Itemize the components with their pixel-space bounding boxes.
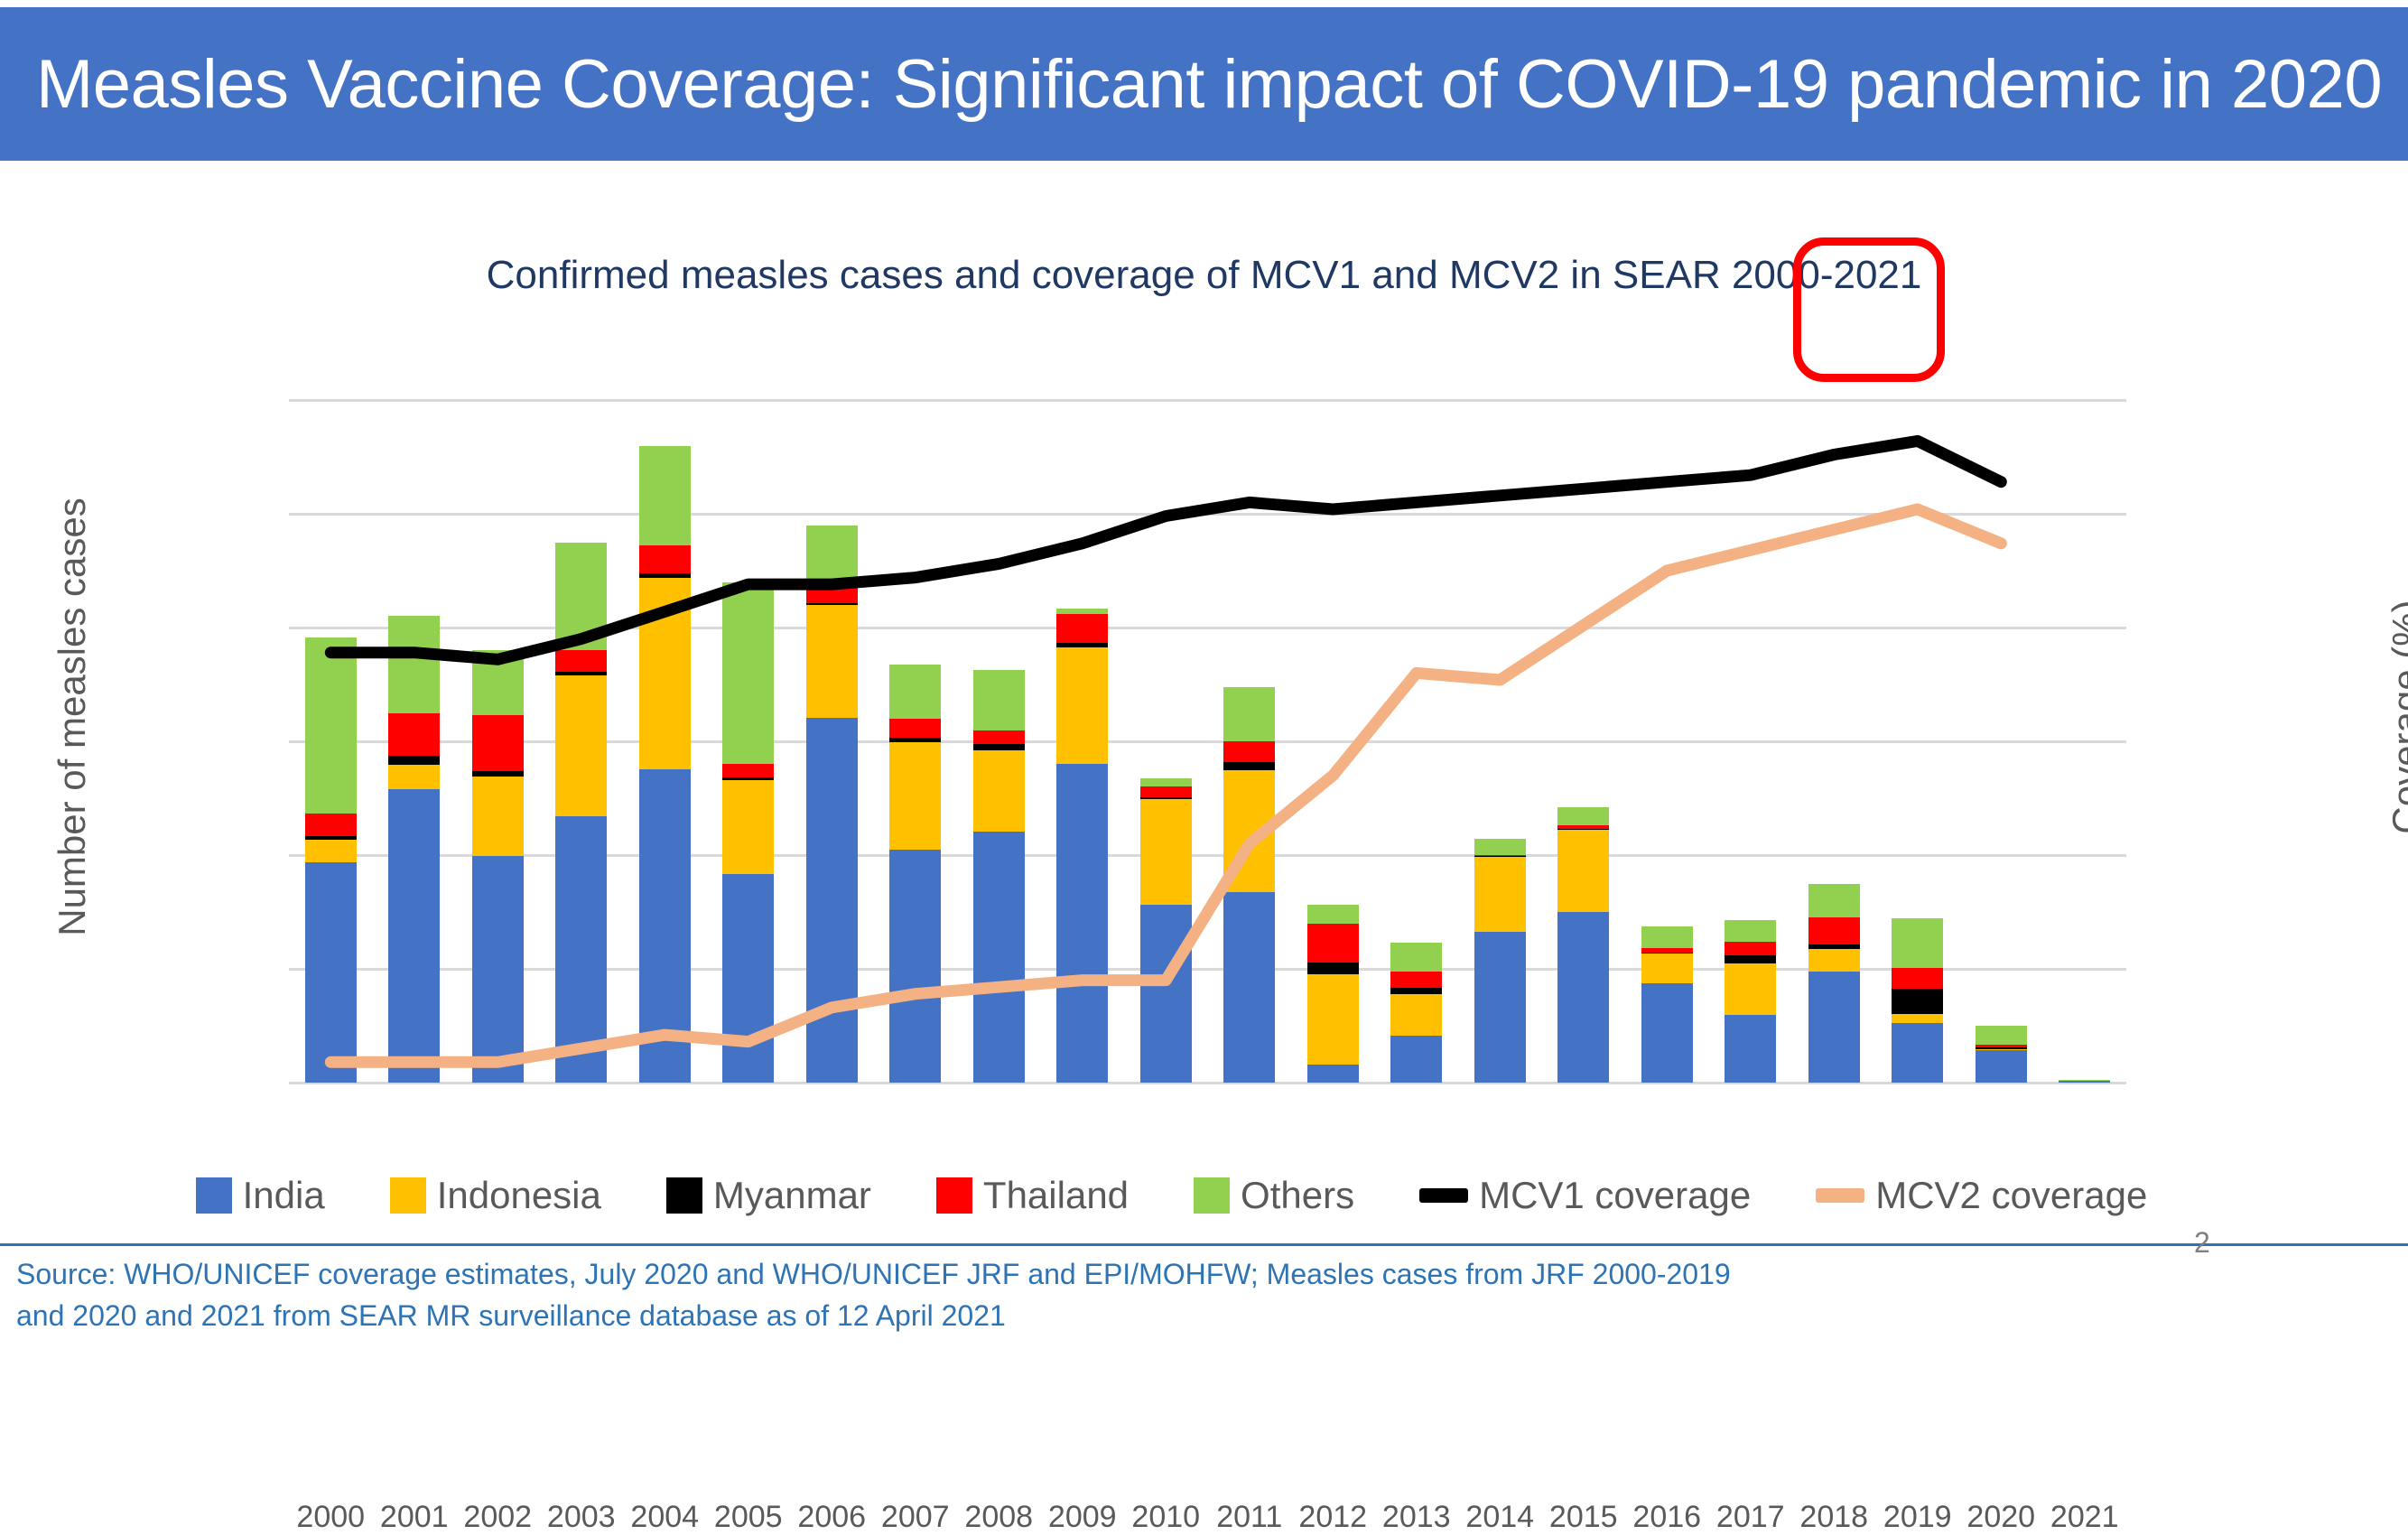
legend-item[interactable]: MCV1 coverage [1419,1174,1751,1217]
legend-item[interactable]: Thailand [936,1174,1129,1217]
legend-item[interactable]: Others [1194,1174,1354,1217]
legend-label: MCV1 coverage [1479,1174,1751,1217]
slide-footer: Source: WHO/UNICEF coverage estimates, J… [0,1243,2408,1354]
legend-label: Thailand [983,1174,1129,1217]
legend-item[interactable]: Indonesia [390,1174,601,1217]
legend-label: India [243,1174,325,1217]
page-number: 2 [2194,1226,2210,1260]
legend-label: MCV2 coverage [1875,1174,2147,1217]
legend-swatch-icon [936,1177,972,1214]
page-title: Measles Vaccine Coverage: Significant im… [0,45,2382,124]
y-axis-label-left: Number of measles cases [51,437,94,997]
chart-legend: IndiaIndonesiaMyanmarThailandOthersMCV1 … [0,1174,2408,1217]
legend-swatch-icon [1194,1177,1230,1214]
coverage-lines [289,400,2126,1083]
slide-title-banner: Measles Vaccine Coverage: Significant im… [0,7,2408,161]
legend-item[interactable]: Myanmar [666,1174,871,1217]
y-axis-label-right: Coverage (%) [2385,437,2408,997]
source-note: Source: WHO/UNICEF coverage estimates, J… [16,1253,1732,1337]
legend-swatch-icon [390,1177,426,1214]
legend-label: Indonesia [437,1174,601,1217]
legend-swatch-icon [666,1177,702,1214]
legend-item[interactable]: MCV2 coverage [1816,1174,2147,1217]
legend-line-icon [1816,1188,1864,1203]
legend-label: Others [1241,1174,1354,1217]
x-axis-tick: 2021 [2031,1500,2139,1535]
coverage-line-mcv2 [330,509,2001,1062]
highlight-box-annotation [1793,237,1945,382]
chart-plot-area: 020,00040,00060,00080,000100,000120,0000… [289,400,2126,1083]
legend-swatch-icon [196,1177,232,1214]
legend-item[interactable]: India [196,1174,325,1217]
legend-label: Myanmar [713,1174,871,1217]
chart-title: Confirmed measles cases and coverage of … [0,253,2408,298]
legend-line-icon [1419,1188,1468,1203]
